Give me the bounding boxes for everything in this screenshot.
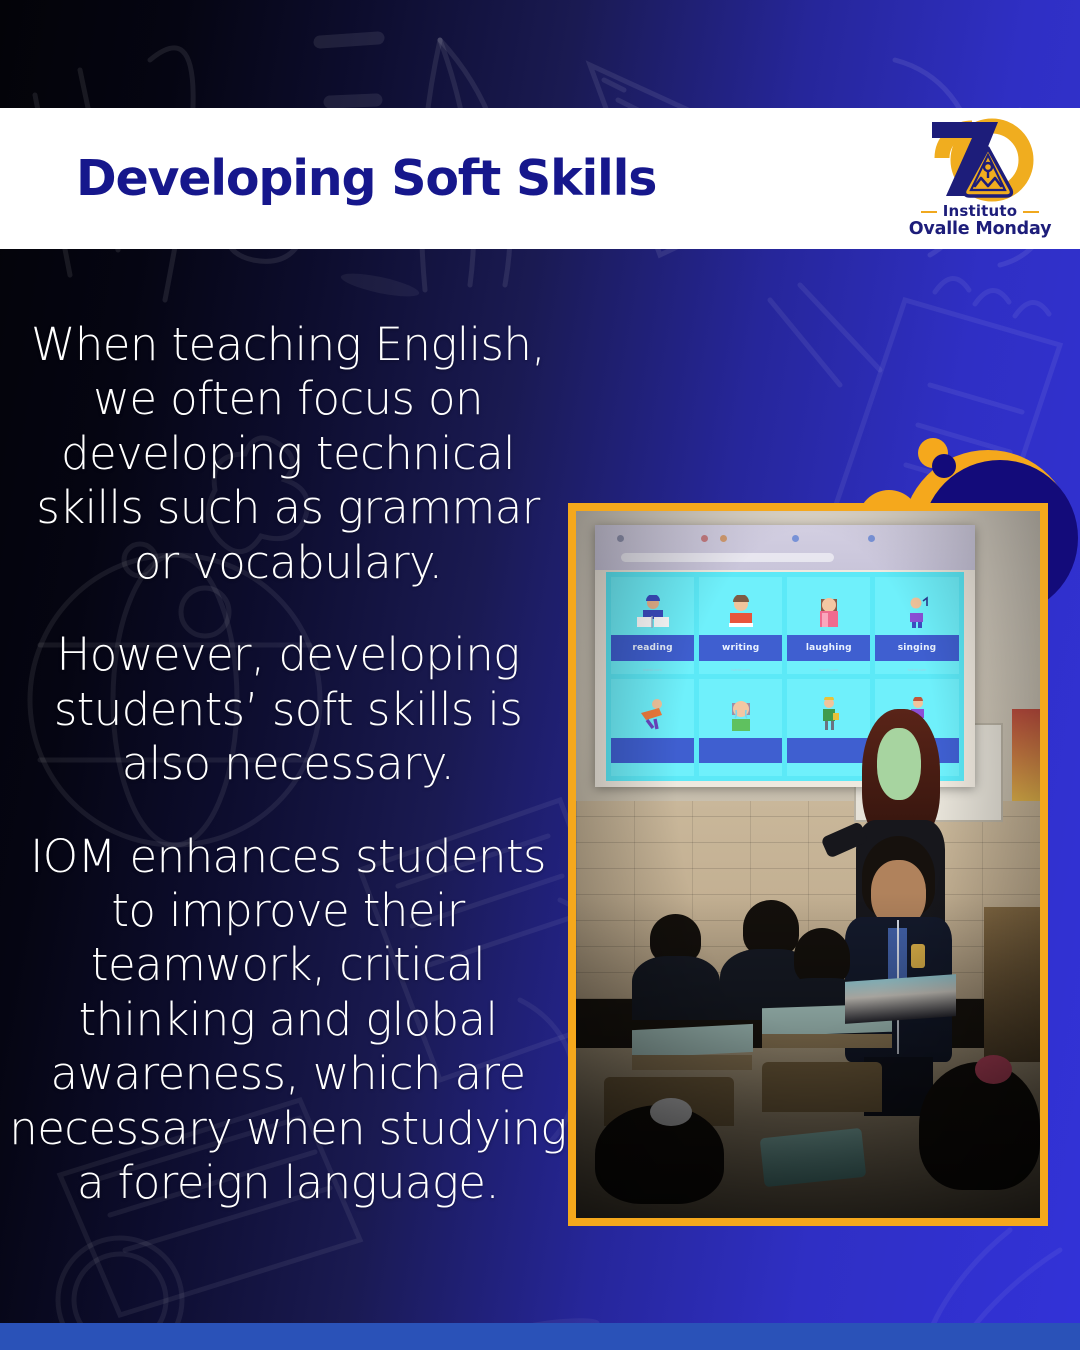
classroom-photo: reading twinkl.com writing twinkl.com: [576, 511, 1040, 1218]
paragraph-1: When teaching English, we often focus on…: [8, 318, 568, 590]
brand-logo: Instituto Ovalle Monday: [906, 112, 1054, 244]
page-title: Developing Soft Skills: [76, 150, 656, 207]
logo-dash-left: [921, 211, 937, 214]
logo-dash-right: [1023, 211, 1039, 214]
photo-bottom-shadow: [576, 893, 1040, 1218]
logo-70-mark: [906, 112, 1054, 204]
paragraph-3: IOM enhances students to improve their t…: [8, 830, 568, 1211]
footer-bar: [0, 1323, 1080, 1350]
logo-wordmark: Instituto Ovalle Monday: [906, 204, 1054, 238]
paragraph-2: However, developing students’ soft skill…: [8, 628, 568, 791]
logo-name-line2: Ovalle Monday: [906, 220, 1054, 239]
body-copy: When teaching English, we often focus on…: [8, 318, 568, 1211]
logo-name-line1: Instituto: [943, 204, 1018, 220]
bubble-navy-small: [932, 454, 956, 478]
social-post-poster: Developing Soft Skills: [0, 0, 1080, 1350]
classroom-photo-frame: reading twinkl.com writing twinkl.com: [568, 503, 1048, 1226]
